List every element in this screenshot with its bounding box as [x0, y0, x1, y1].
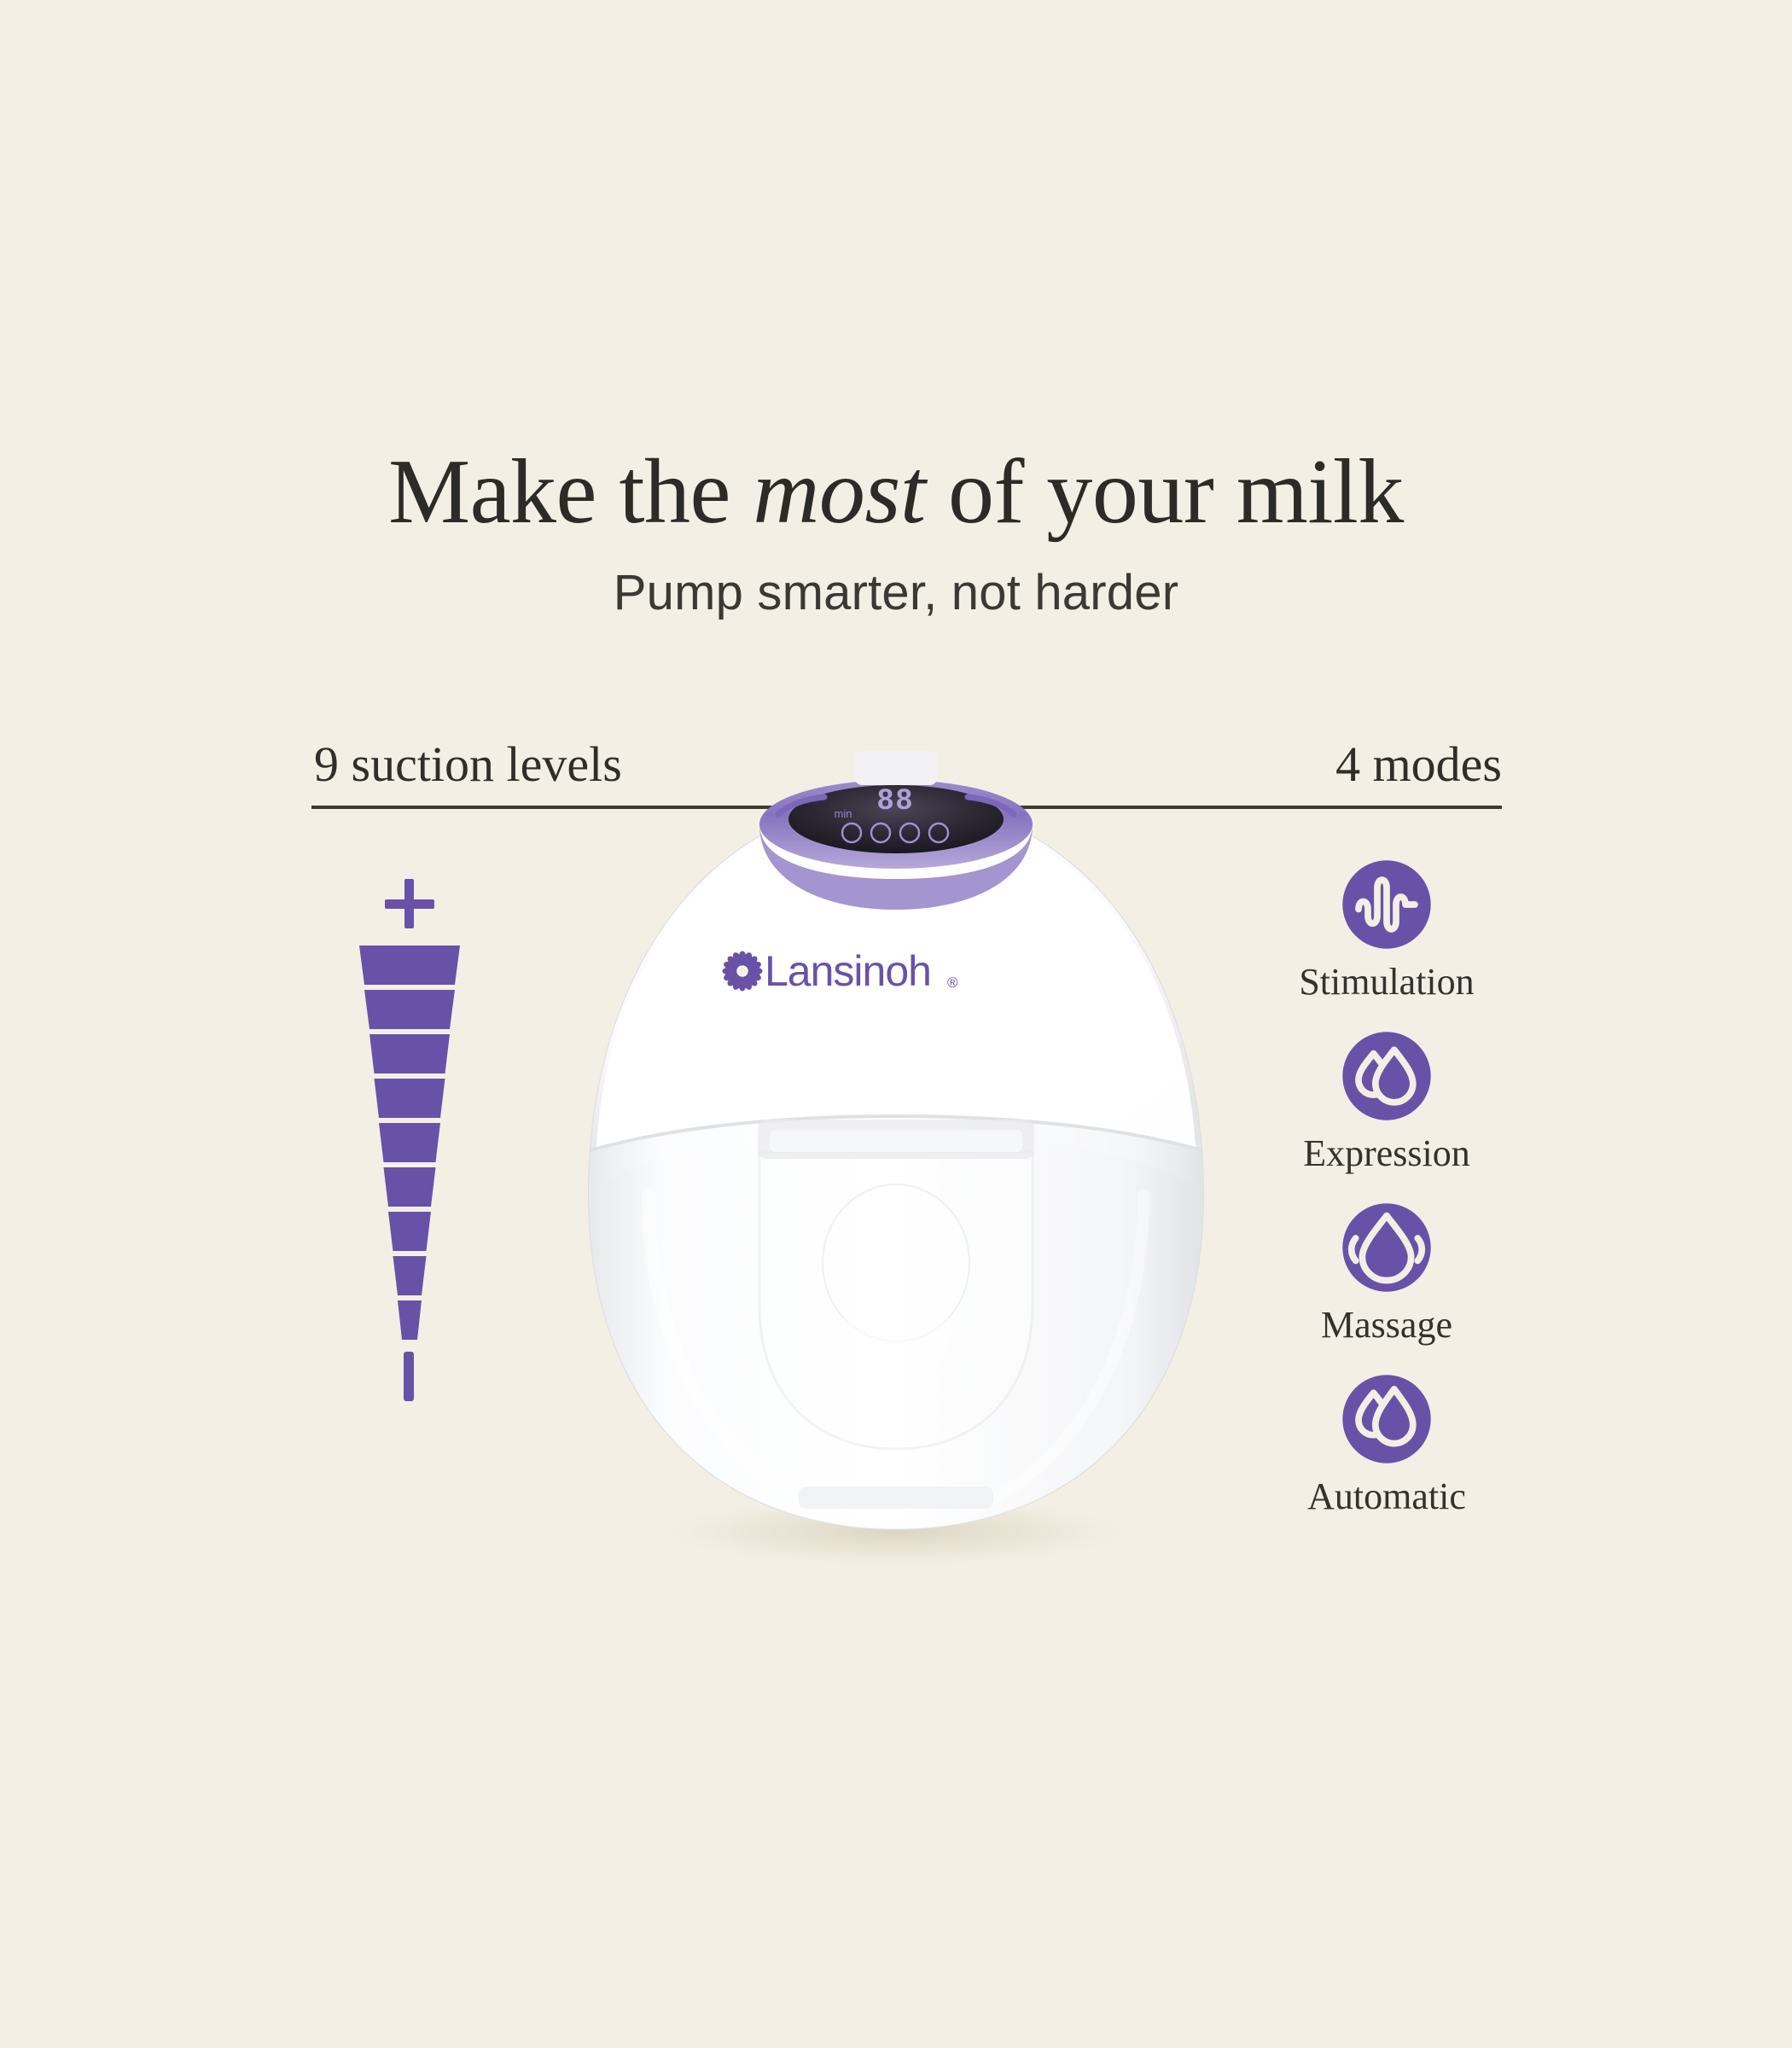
suction-level-segment — [359, 1034, 460, 1073]
display-unit: min — [835, 807, 852, 820]
bottom-foot — [799, 1487, 993, 1509]
suction-level-indicator — [354, 879, 465, 1401]
mode-label: Automatic — [1207, 1475, 1566, 1518]
headline-part1: Make the — [388, 441, 753, 543]
lansinoh-flower-icon — [723, 951, 763, 992]
suction-level-segments — [354, 945, 465, 1340]
lid-band-inner — [770, 1130, 1022, 1152]
header: Make the most of your milk Pump smarter,… — [0, 444, 1792, 621]
display-value: 88 — [877, 783, 915, 816]
pump-illustration: 88 min — [546, 751, 1246, 1570]
control-panel-assembly[interactable]: 88 min — [759, 751, 1033, 910]
product-image: 88 min — [546, 751, 1246, 1570]
plus-icon — [385, 879, 434, 928]
double-droplet-icon — [1340, 1029, 1434, 1123]
headline-part2: of your milk — [925, 441, 1403, 543]
mode-label: Stimulation — [1207, 960, 1566, 1004]
headline-emphasis: most — [753, 441, 925, 543]
page-subtitle: Pump smarter, not harder — [0, 564, 1792, 621]
double-droplet-icon — [1340, 1372, 1434, 1466]
brand-name: Lansinoh — [765, 947, 931, 995]
droplet-arcs-icon — [1340, 1201, 1434, 1295]
registered-mark: ® — [947, 975, 958, 991]
suction-level-segment — [359, 1167, 460, 1207]
mode-item-stimulation[interactable]: Stimulation — [1207, 858, 1566, 1004]
suction-level-segment — [359, 1123, 460, 1162]
wave-icon — [1340, 858, 1434, 951]
suction-level-segment — [359, 1256, 460, 1295]
suction-level-segment — [359, 945, 460, 985]
suction-level-segment — [359, 1079, 460, 1118]
mode-label: Expression — [1207, 1132, 1566, 1175]
mode-label: Massage — [1207, 1303, 1566, 1347]
page-title: Make the most of your milk — [0, 444, 1792, 540]
suction-level-segment — [359, 1212, 460, 1251]
top-handle — [855, 751, 937, 785]
modes-list: Stimulation Expression Massage — [1207, 858, 1566, 1544]
marketing-page: Make the most of your milk Pump smarter,… — [0, 0, 1792, 2048]
suction-level-segment — [359, 1300, 460, 1340]
mode-item-massage[interactable]: Massage — [1207, 1201, 1566, 1347]
mode-item-automatic[interactable]: Automatic — [1207, 1372, 1566, 1518]
suction-level-segment — [359, 990, 460, 1029]
tunnel-base — [841, 1287, 951, 1376]
mode-item-expression[interactable]: Expression — [1207, 1029, 1566, 1175]
minus-icon — [404, 1352, 416, 1401]
